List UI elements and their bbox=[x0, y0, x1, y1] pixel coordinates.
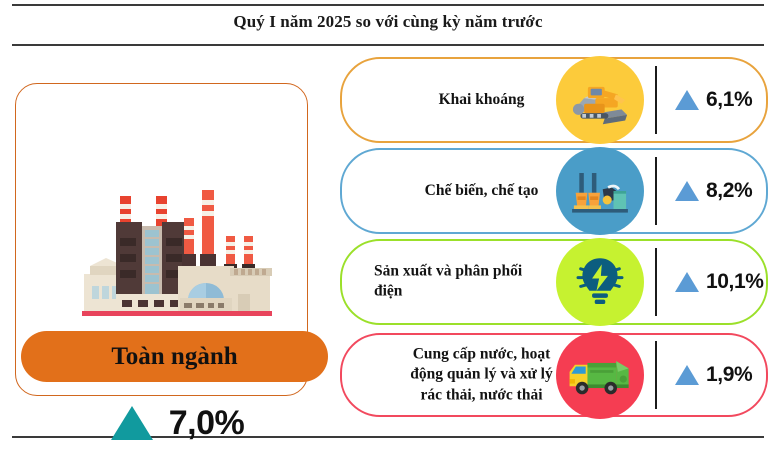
sector-row-electricity[interactable]: Sản xuất và phân phối điện 10,1% bbox=[340, 239, 768, 325]
triangle-up-icon bbox=[675, 365, 699, 385]
triangle-up-icon bbox=[111, 406, 153, 440]
factory-illustration-icon bbox=[76, 182, 276, 322]
sector-row-water-waste[interactable]: Cung cấp nước, hoạt động quản lý và xử l… bbox=[340, 333, 768, 417]
sector-value-manufacturing: 8,2% bbox=[706, 179, 752, 203]
sector-row-mining[interactable]: Khai khoáng 6,1% bbox=[340, 57, 768, 143]
sector-divider-manufacturing bbox=[655, 157, 657, 225]
triangle-up-icon bbox=[675, 90, 699, 110]
sector-value-box-water-waste: 1,9% bbox=[675, 363, 752, 387]
sector-value-mining: 6,1% bbox=[706, 88, 752, 112]
total-industry-label: Toàn ngành bbox=[111, 343, 237, 371]
sector-row-manufacturing[interactable]: Chế biến, chế tạo 8,2% bbox=[340, 148, 768, 234]
sector-value-box-manufacturing: 8,2% bbox=[675, 179, 752, 203]
manufacturing-factory-icon bbox=[556, 147, 644, 235]
lightbulb-electricity-icon bbox=[556, 238, 644, 326]
page-title: Quý I năm 2025 so với cùng kỳ năm trước bbox=[0, 12, 776, 32]
garbage-truck-icon bbox=[556, 331, 644, 419]
mining-excavator-icon bbox=[556, 56, 644, 144]
sector-value-box-electricity: 10,1% bbox=[675, 270, 764, 294]
total-industry-value-row: 7,0% bbox=[31, 394, 324, 452]
sector-value-box-mining: 6,1% bbox=[675, 88, 752, 112]
sector-divider-mining bbox=[655, 66, 657, 134]
sector-label-line: rác thải, nước thải bbox=[374, 385, 589, 405]
triangle-up-icon bbox=[675, 272, 699, 292]
title-divider-line bbox=[12, 44, 764, 46]
sector-value-water-waste: 1,9% bbox=[706, 363, 752, 387]
sector-divider-electricity bbox=[655, 248, 657, 316]
sector-divider-water-waste bbox=[655, 341, 657, 409]
triangle-up-icon bbox=[675, 181, 699, 201]
top-divider-line bbox=[12, 4, 764, 6]
total-industry-pill[interactable]: Toàn ngành bbox=[21, 331, 328, 382]
sector-label-line: Cung cấp nước, hoạt bbox=[374, 344, 589, 364]
total-industry-card: Toàn ngành 7,0% bbox=[15, 83, 308, 396]
total-industry-value: 7,0% bbox=[169, 404, 245, 443]
sector-value-electricity: 10,1% bbox=[706, 270, 764, 294]
